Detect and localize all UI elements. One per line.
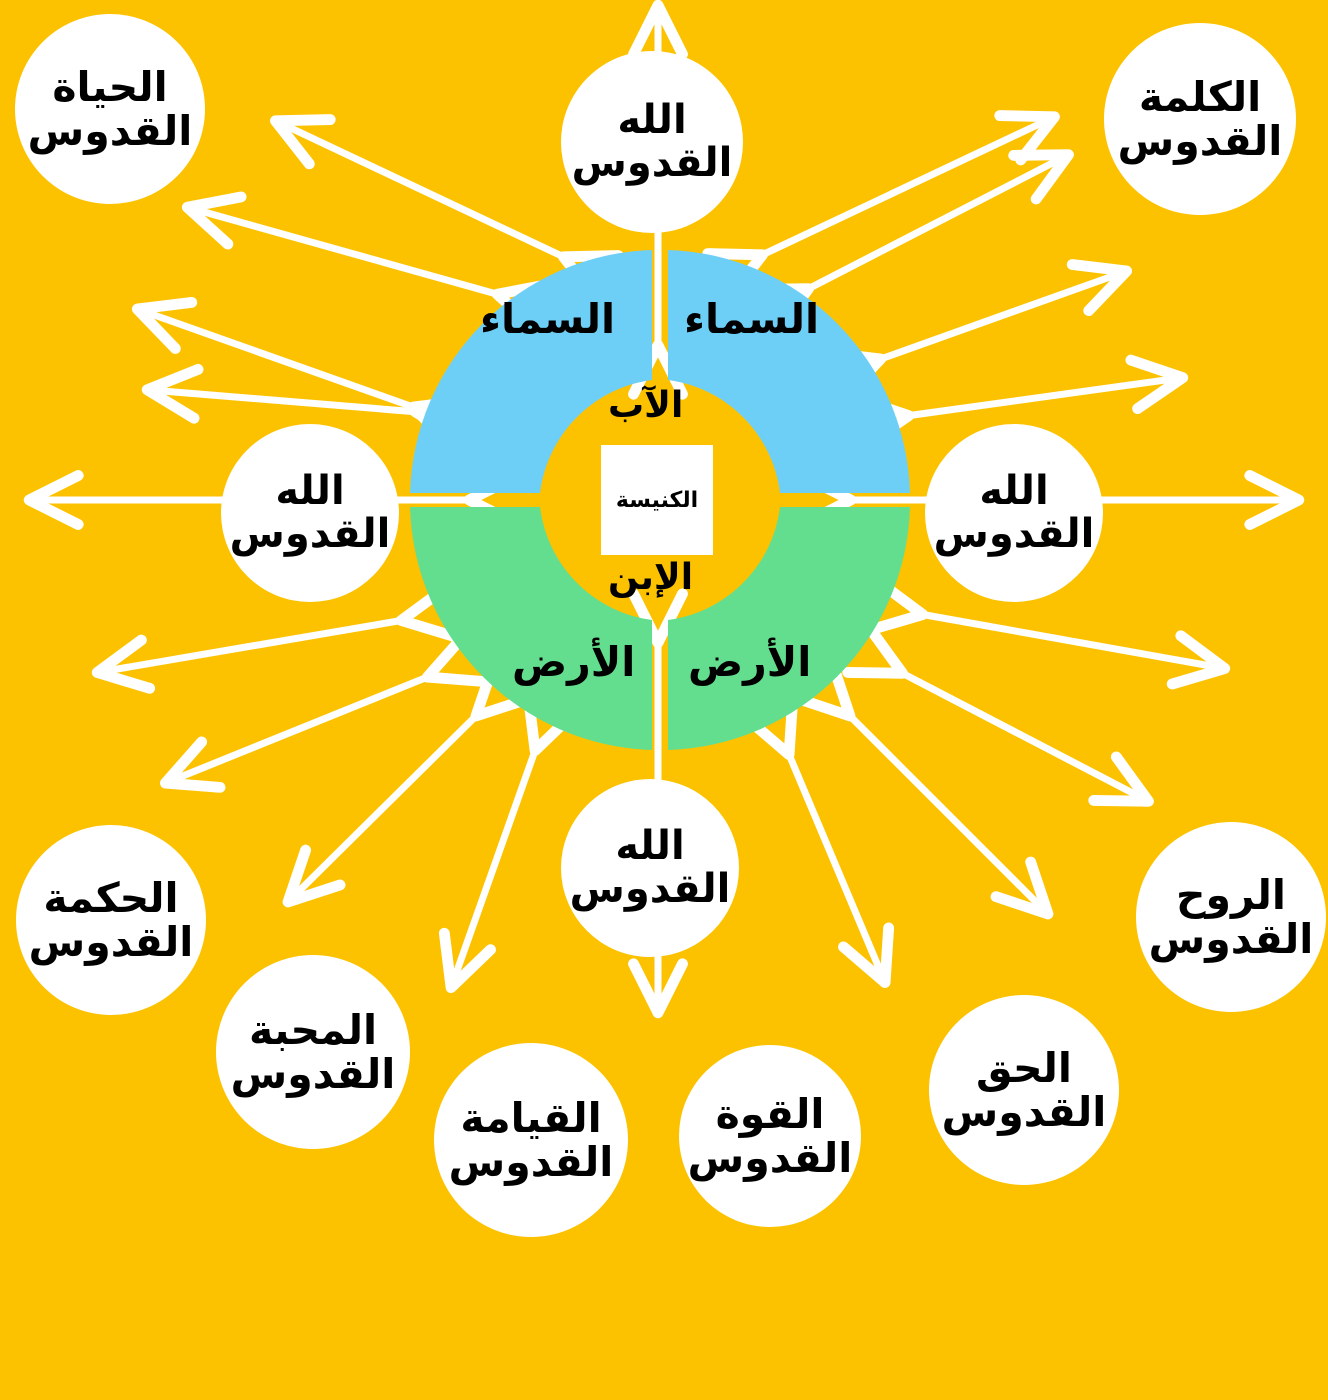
earth-label-left: الأرض (512, 638, 635, 686)
sky-label-right: السماء (684, 295, 819, 343)
satellite-label-line2: القدوس (449, 1140, 614, 1184)
satellite-label-line2: القدوس (231, 1052, 396, 1096)
satellite-label-line1: الكلمة (1139, 75, 1261, 119)
satellite-circle-lower-right-2[interactable]: الحقالقدوس (929, 995, 1119, 1185)
sky-label-left: السماء (480, 295, 615, 343)
satellite-label-line1: القوة (716, 1092, 825, 1136)
satellite-circle-bottom-left-3[interactable]: القيامةالقدوس (434, 1043, 628, 1237)
satellite-circle-lower-left-2[interactable]: المحبةالقدوس (216, 955, 410, 1149)
son-label: الإبن (608, 557, 693, 598)
satellite-circle-lower-right[interactable]: الروحالقدوس (1136, 822, 1326, 1012)
satellite-label-line2: القدوس (230, 513, 391, 556)
satellite-label-line2: القدوس (688, 1136, 853, 1180)
satellite-label-line1: الله (617, 99, 686, 142)
satellite-circle-top-center[interactable]: اللهالقدوس (561, 51, 743, 233)
satellite-label-line2: القدوس (572, 142, 733, 185)
satellite-circle-top-left[interactable]: الحياةالقدوس (15, 14, 205, 204)
satellite-circle-right-center[interactable]: اللهالقدوس (925, 424, 1103, 602)
satellite-circle-top-right[interactable]: الكلمةالقدوس (1104, 23, 1296, 215)
satellite-circle-bottom-right-3[interactable]: القوةالقدوس (679, 1045, 861, 1227)
satellite-label-line1: الله (615, 825, 684, 868)
satellite-label-line1: الحياة (52, 65, 167, 109)
satellite-label-line1: المحبة (249, 1008, 377, 1052)
diagram-canvas: السماء السماء الأرض الأرض الآب الإبن الك… (0, 0, 1328, 1400)
satellite-label-line1: القيامة (460, 1096, 601, 1140)
satellite-circle-lower-left[interactable]: الحكمةالقدوس (16, 825, 206, 1015)
satellite-label-line1: الحق (976, 1046, 1072, 1090)
satellite-circle-left-center[interactable]: اللهالقدوس (221, 424, 399, 602)
satellite-label-line1: الله (275, 470, 344, 513)
satellite-label-line2: القدوس (1118, 119, 1283, 163)
satellite-label-line1: الله (979, 470, 1048, 513)
satellite-label-line2: القدوس (29, 920, 194, 964)
church-box: الكنيسة (601, 445, 713, 555)
satellite-circle-bottom-center[interactable]: اللهالقدوس (561, 779, 739, 957)
satellite-label-line1: الحكمة (43, 876, 178, 920)
church-label: الكنيسة (616, 488, 698, 513)
satellite-label-line2: القدوس (942, 1090, 1107, 1134)
father-label: الآب (608, 385, 683, 426)
satellite-label-line2: القدوس (1149, 917, 1314, 961)
satellite-label-line1: الروح (1176, 873, 1286, 917)
satellite-label-line2: القدوس (934, 513, 1095, 556)
satellite-label-line2: القدوس (570, 868, 731, 911)
earth-label-right: الأرض (688, 638, 811, 686)
satellite-label-line2: القدوس (28, 109, 193, 153)
